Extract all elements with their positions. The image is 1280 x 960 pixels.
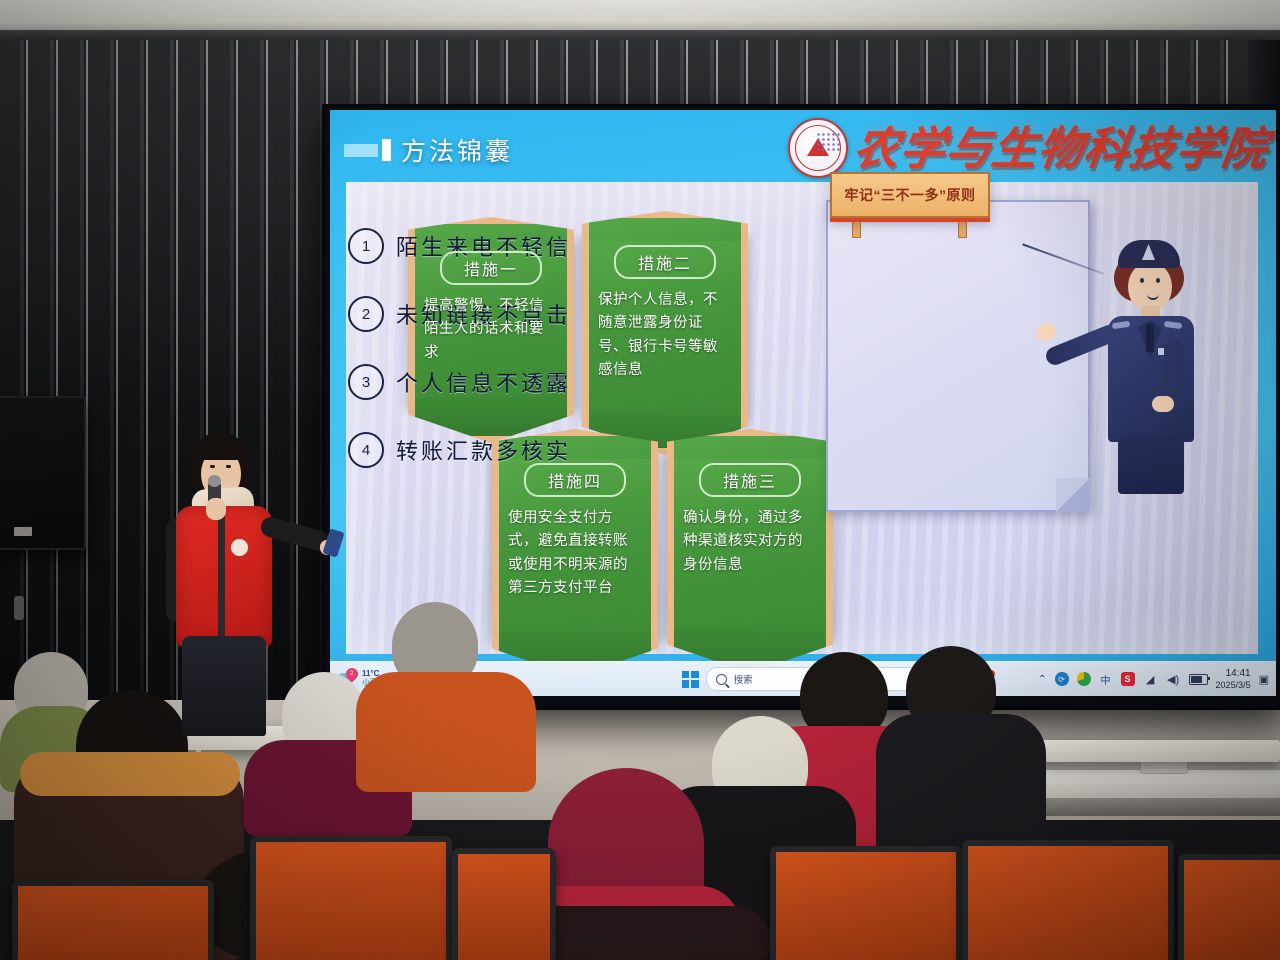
organization-header: 农学与生物科技学院 xyxy=(788,118,1268,178)
officer-hip-hand xyxy=(1152,396,1174,412)
measure-label: 措施一 xyxy=(440,251,542,285)
presenter-eye-right xyxy=(226,465,231,468)
principle-number: 2 xyxy=(348,296,384,332)
principle-number: 4 xyxy=(348,432,384,468)
windows-start-icon[interactable] xyxy=(682,671,699,688)
police-officer-illustration xyxy=(1092,240,1212,510)
clock-date: 2025/3/5 xyxy=(1216,680,1251,690)
onedrive-icon[interactable]: ⟳ xyxy=(1055,672,1069,686)
battery-fill xyxy=(1191,676,1203,683)
officer-face xyxy=(1128,262,1172,312)
logo-pane-1 xyxy=(682,671,690,679)
university-seal-icon xyxy=(788,118,848,178)
search-icon xyxy=(716,674,727,685)
presenter-coat-lower xyxy=(182,636,266,736)
chair-seat xyxy=(770,846,962,960)
officer-tie xyxy=(1146,324,1154,352)
logo-pane-2 xyxy=(691,671,699,679)
sogou-input-icon[interactable]: S xyxy=(1121,672,1135,686)
principle-number: 1 xyxy=(348,228,384,264)
chair-seat xyxy=(12,880,214,960)
presenter-eye-left xyxy=(210,465,215,468)
measure-card: 措施二 保护个人信息，不随意泄露身份证号、银行卡号等敏感信息 xyxy=(582,232,748,418)
notification-center-icon[interactable]: ▣ xyxy=(1259,673,1269,686)
slide-title: 方法锦囊 xyxy=(401,132,513,168)
panel-corner-fold xyxy=(1056,478,1090,512)
measure-card: 措施四 使用安全支付方式，避免直接转账或使用不明来源的第三方支付平台 xyxy=(492,450,658,640)
logo-pane-4 xyxy=(691,680,699,688)
door-handle[interactable] xyxy=(14,596,24,620)
search-placeholder: 搜索 xyxy=(734,672,753,686)
measure-label: 措施四 xyxy=(524,463,626,497)
title-accent-blocks xyxy=(344,139,391,161)
measure-text: 确认身份，通过多种渠道核实对方的身份信息 xyxy=(674,497,826,585)
logo-pane-3 xyxy=(682,680,690,688)
taskbar-clock[interactable]: 14:41 2025/3/5 xyxy=(1216,668,1251,690)
principle-text: 转账汇款多核实 xyxy=(396,434,571,466)
measure-text: 保护个人信息，不随意泄露身份证号、银行卡号等敏感信息 xyxy=(589,279,741,391)
fur-collar xyxy=(20,752,240,796)
system-tray: ⌃ ⟳ 中 S ◢ ◀) 14:41 2025/3/5 ▣ xyxy=(1038,668,1276,690)
officer-legs xyxy=(1118,436,1184,494)
accent-block-narrow xyxy=(382,139,391,161)
audience-coat xyxy=(356,672,536,792)
pin-count: 2 xyxy=(349,671,352,677)
measure-text: 使用安全支付方式，避免直接转账或使用不明来源的第三方支付平台 xyxy=(499,497,651,609)
recycle-icon[interactable] xyxy=(1077,672,1091,686)
organization-name: 农学与生物科技学院 xyxy=(851,126,1271,171)
volume-icon[interactable]: ◀) xyxy=(1166,672,1181,687)
volunteer-presenter xyxy=(168,432,288,732)
wall-speaker xyxy=(0,396,86,550)
chair-seat xyxy=(962,840,1174,960)
principle-number: 3 xyxy=(348,364,384,400)
accent-block-wide xyxy=(344,144,378,157)
chair-seat xyxy=(1178,854,1280,960)
battery-icon[interactable] xyxy=(1189,674,1208,685)
principle-banner: 牢记“三不一多”原则 xyxy=(830,172,990,218)
speaker-badge xyxy=(14,527,32,536)
measure-card: 措施三 确认身份，通过多种渠道核实对方的身份信息 xyxy=(667,450,833,636)
vest-zipper-gap xyxy=(218,512,225,642)
officer-eye-right xyxy=(1156,278,1160,283)
seal-dot-pattern xyxy=(816,132,842,152)
chevron-up-icon[interactable]: ⌃ xyxy=(1038,674,1046,685)
chair-seat xyxy=(452,848,556,960)
measure-label: 措施三 xyxy=(699,463,801,497)
slide-header: 方法锦囊 xyxy=(344,132,513,168)
projected-slide: 方法锦囊 农学与生物科技学院 措施一 提高警惕，不轻信陌生人的话术和要求 措施二… xyxy=(330,110,1276,696)
wifi-icon[interactable]: ◢ xyxy=(1143,672,1158,687)
officer-hip-arm xyxy=(1164,340,1184,402)
measure-label: 措施二 xyxy=(614,245,716,279)
lecture-hall-photo: 方法锦囊 农学与生物科技学院 措施一 提高警惕，不轻信陌生人的话术和要求 措施二… xyxy=(0,0,1280,960)
presenter-fringe xyxy=(194,436,246,460)
presenter-mic-hand xyxy=(206,498,226,520)
chair-seat xyxy=(250,836,452,960)
ime-language-icon[interactable]: 中 xyxy=(1099,672,1113,686)
vest-logo xyxy=(230,538,249,557)
officer-eye-left xyxy=(1140,278,1144,283)
clock-time: 14:41 xyxy=(1226,668,1251,680)
measure-text: 提高警惕，不轻信陌生人的话术和要求 xyxy=(415,285,567,373)
officer-cap xyxy=(1118,240,1180,268)
